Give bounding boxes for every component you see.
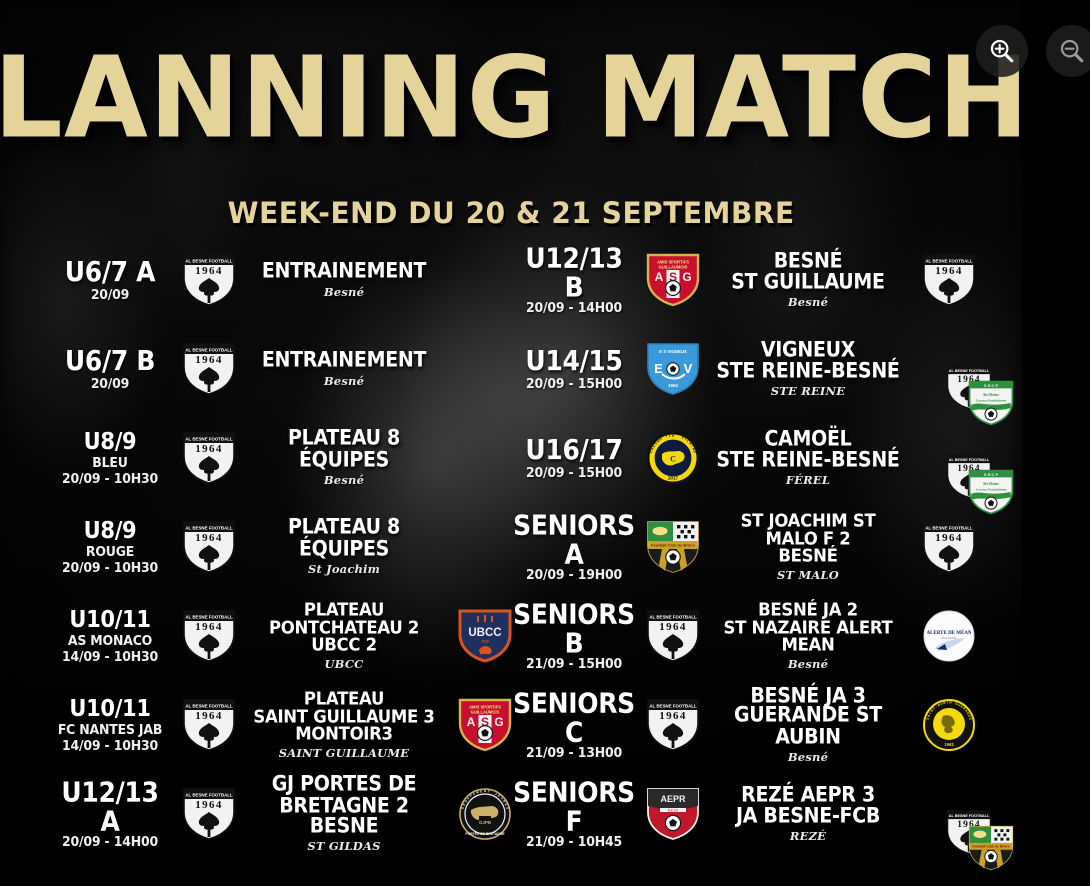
category-label: U6/7 A bbox=[48, 258, 172, 287]
svg-text:GJPB: GJPB bbox=[479, 820, 492, 825]
svg-text:1964: 1964 bbox=[935, 265, 963, 277]
fixture-row[interactable]: SENIORS A20/09 - 19H00Football Club de B… bbox=[512, 507, 992, 587]
svg-text:1963: 1963 bbox=[668, 383, 678, 388]
fixture-matchup: BESNÉST GUILLAUMEBesné bbox=[710, 251, 906, 309]
svg-text:Football Club de Brière: Football Club de Brière bbox=[651, 543, 696, 548]
svg-text:ALERTE DE MÉAN: ALERTE DE MÉAN bbox=[926, 630, 971, 636]
svg-text:1964: 1964 bbox=[659, 710, 687, 722]
crest-al-besne: AL BESNE FOOTBALL1964 bbox=[181, 608, 237, 664]
svg-text:V: V bbox=[684, 361, 693, 376]
fixture-category: SENIORS C21/09 - 13H00 bbox=[512, 692, 636, 759]
svg-text:1910: 1910 bbox=[481, 640, 489, 644]
fixture-venue: Besné bbox=[250, 374, 438, 388]
matchup-line: UBCC 2 bbox=[250, 635, 438, 654]
fixture-venue: Besné bbox=[250, 285, 438, 299]
svg-text:1964: 1964 bbox=[935, 532, 963, 544]
poster-title: PLANNING MATCHS bbox=[0, 44, 1022, 154]
svg-text:AL BESNE FOOTBALL: AL BESNE FOOTBALL bbox=[949, 458, 990, 462]
svg-text:E S VIGNEUX: E S VIGNEUX bbox=[659, 349, 687, 354]
away-crest-cell: AL BESNE FOOTBALL1964 bbox=[906, 252, 992, 308]
matchup-line: GUERANDE ST AUBIN bbox=[714, 704, 902, 749]
crest-al-besne: AL BESNE FOOTBALL1964 bbox=[181, 341, 237, 397]
fixture-venue: ST GILDAS bbox=[250, 839, 438, 853]
crest-ste-reine: S R C PSte ReineCrossac Pontchâteau bbox=[967, 468, 1015, 516]
fixture-matchup: VIGNEUXSTE REINE-BESNÉSTE REINE bbox=[710, 340, 906, 398]
category-label: SENIORS C bbox=[512, 688, 636, 745]
fixture-datetime: 21/09 - 10H45 bbox=[512, 833, 636, 849]
fixture-category: SENIORS A20/09 - 19H00 bbox=[512, 514, 636, 581]
crest-fc-briere: Football Club de Brière bbox=[645, 519, 701, 575]
svg-text:1962: 1962 bbox=[944, 742, 954, 747]
zoom-in-icon bbox=[988, 37, 1016, 65]
fixture-datetime: 20/09 - 14H00 bbox=[48, 833, 172, 849]
svg-text:AL BESNE FOOTBALL: AL BESNE FOOTBALL bbox=[185, 704, 233, 709]
category-label: U16/17 bbox=[512, 436, 636, 465]
matchup-line: PLATEAU 8 ÉQUIPES bbox=[250, 516, 438, 561]
fixture-datetime: 14/09 - 10H30 bbox=[48, 737, 172, 753]
fixture-category: U12/13 A20/09 - 14H00 bbox=[48, 781, 172, 848]
image-viewer: PLANNING MATCHS WEEK-END DU 20 & 21 SEPT… bbox=[0, 0, 1090, 886]
fixture-row[interactable]: U12/13 B20/09 - 14H00AMIS SPORTIFSGUILLA… bbox=[512, 240, 992, 320]
fixture-datetime: 20/09 bbox=[48, 375, 172, 391]
fixture-matchup: ENTRAINEMENTBesné bbox=[246, 350, 442, 387]
zoom-out-icon bbox=[1058, 37, 1086, 65]
fixture-row[interactable]: U6/7 B20/09AL BESNE FOOTBALL1964ENTRAINE… bbox=[48, 329, 528, 409]
svg-text:S R C P: S R C P bbox=[984, 472, 999, 477]
home-crest-cell: AL BESNE FOOTBALL1964 bbox=[172, 786, 246, 842]
fixture-datetime: 20/09 - 19H00 bbox=[512, 566, 636, 582]
category-label: U12/13 B bbox=[512, 243, 636, 300]
category-sublabel: ROUGE bbox=[48, 543, 172, 559]
crest-al-besne: AL BESNE FOOTBALL1964 bbox=[181, 519, 237, 575]
svg-text:1964: 1964 bbox=[195, 710, 223, 722]
fixture-datetime: 14/09 - 10H30 bbox=[48, 648, 172, 664]
fixture-category: SENIORS F21/09 - 10H45 bbox=[512, 781, 636, 848]
svg-text:1964: 1964 bbox=[195, 799, 223, 811]
matchup-line: ENTRAINEMENT bbox=[250, 260, 438, 282]
category-label: U10/11 bbox=[48, 608, 172, 632]
svg-text:AL BESNE FOOTBALL: AL BESNE FOOTBALL bbox=[185, 259, 233, 264]
category-label: SENIORS A bbox=[512, 510, 636, 567]
fixture-category: U8/9ROUGE20/09 - 10H30 bbox=[48, 520, 172, 574]
fixture-category: U10/11AS MONACO14/09 - 10H30 bbox=[48, 609, 172, 663]
svg-text:AL BESNE FOOTBALL: AL BESNE FOOTBALL bbox=[185, 437, 233, 442]
poster-title-container: PLANNING MATCHS bbox=[0, 44, 1022, 134]
fixture-matchup: PLATEAUPONTCHATEAU 2UBCC 2UBCC bbox=[246, 601, 442, 671]
home-crest-cell: E S VIGNEUXEV1963 bbox=[636, 341, 710, 397]
fixture-category: U14/1520/09 - 15H00 bbox=[512, 348, 636, 390]
svg-text:A: A bbox=[655, 270, 664, 284]
fixture-matchup: REZÉ AEPR 3JA BESNE-FCBREZÉ bbox=[710, 785, 906, 843]
away-crest-cell: AL BESNE FOOTBALL1964 bbox=[906, 519, 992, 575]
fixture-matchup: GJ PORTES DE BRETAGNE 2BESNEST GILDAS bbox=[246, 775, 442, 853]
svg-text:Saint-Nazaire: Saint-Nazaire bbox=[941, 636, 957, 640]
home-crest-cell: AL BESNE FOOTBALL1964 bbox=[172, 519, 246, 575]
home-crest-cell: AL BESNE FOOTBALL1964 bbox=[636, 608, 710, 664]
home-crest-cell: PRESQU'ILE VILAINEC2017 bbox=[636, 430, 710, 486]
fixture-venue: REZÉ bbox=[714, 829, 902, 843]
home-crest-cell: AL BESNE FOOTBALL1964 bbox=[636, 697, 710, 753]
fixtures-column-left: U6/7 A20/09AL BESNE FOOTBALL1964ENTRAINE… bbox=[48, 240, 528, 863]
crest-al-besne: AL BESNE FOOTBALL1964 bbox=[181, 252, 237, 308]
fixture-datetime: 21/09 - 13H00 bbox=[512, 744, 636, 760]
svg-text:AL BESNE FOOTBALL: AL BESNE FOOTBALL bbox=[925, 259, 973, 264]
matchup-line: PLATEAU 8 ÉQUIPES bbox=[250, 427, 438, 472]
svg-text:S R C P: S R C P bbox=[984, 383, 999, 388]
crest-asg: AMIS SPORTIFSGUILLAUMOISASG bbox=[645, 252, 701, 308]
fixture-category: SENIORS B21/09 - 15H00 bbox=[512, 603, 636, 670]
home-crest-cell: AL BESNE FOOTBALL1964 bbox=[172, 341, 246, 397]
fixture-venue: UBCC bbox=[250, 657, 438, 671]
home-crest-cell: AEPRR E Z E bbox=[636, 786, 710, 842]
fixture-row[interactable]: U8/9BLEU20/09 - 10H30AL BESNE FOOTBALL19… bbox=[48, 418, 528, 498]
matchup-line: ENTRAINEMENT bbox=[250, 349, 438, 371]
svg-text:AL BESNE FOOTBALL: AL BESNE FOOTBALL bbox=[649, 615, 697, 620]
fixture-venue: Besné bbox=[250, 473, 438, 487]
svg-text:Ste Reine: Ste Reine bbox=[983, 481, 999, 486]
svg-text:AL BESNE FOOTBALL: AL BESNE FOOTBALL bbox=[925, 526, 973, 531]
svg-text:C: C bbox=[670, 455, 676, 464]
svg-text:AL BESNE FOOTBALL: AL BESNE FOOTBALL bbox=[185, 793, 233, 798]
fixture-venue: Besné bbox=[714, 295, 902, 309]
fixture-matchup: CAMOËLSTE REINE-BESNÉFÉREL bbox=[710, 429, 906, 487]
fixture-venue: Besné bbox=[714, 750, 902, 764]
matchup-line: BESNÉ bbox=[714, 546, 902, 565]
svg-text:UBCC: UBCC bbox=[468, 627, 501, 639]
svg-text:AL BESNE FOOTBALL: AL BESNE FOOTBALL bbox=[185, 615, 233, 620]
category-sublabel: BLEU bbox=[48, 454, 172, 470]
svg-text:1964: 1964 bbox=[195, 621, 223, 633]
matchup-line: MEAN bbox=[714, 635, 902, 654]
svg-text:AL BESNE FOOTBALL: AL BESNE FOOTBALL bbox=[649, 704, 697, 709]
category-label: U6/7 B bbox=[48, 347, 172, 376]
fixture-row[interactable]: SENIORS C21/09 - 13H00AL BESNE FOOTBALL1… bbox=[512, 685, 992, 765]
svg-text:G: G bbox=[494, 715, 503, 729]
home-crest-cell: AL BESNE FOOTBALL1964 bbox=[172, 252, 246, 308]
crest-al-besne: AL BESNE FOOTBALL1964 bbox=[181, 697, 237, 753]
away-crest-cell: ALERTE DE MÉANSaint-Nazaire bbox=[906, 608, 992, 664]
crest-portes-bretagne: GROUPEMENT JEUNESGJPBPORTES DE BRETAGNE bbox=[457, 786, 513, 842]
zoom-out-button[interactable] bbox=[1046, 25, 1090, 77]
svg-text:1964: 1964 bbox=[195, 265, 223, 277]
category-label: U10/11 bbox=[48, 697, 172, 721]
home-crest-cell: AL BESNE FOOTBALL1964 bbox=[172, 608, 246, 664]
svg-text:N: N bbox=[484, 789, 486, 793]
fixture-row[interactable]: U14/1520/09 - 15H00E S VIGNEUXEV1963VIGN… bbox=[512, 329, 992, 409]
fixture-matchup: PLATEAU 8 ÉQUIPESBesné bbox=[246, 429, 442, 487]
home-crest-cell: Football Club de Brière bbox=[636, 519, 710, 575]
fixture-row[interactable]: SENIORS F21/09 - 10H45AEPRR E Z EREZÉ AE… bbox=[512, 774, 992, 854]
fixture-datetime: 20/09 - 14H00 bbox=[512, 299, 636, 315]
crest-al-besne: AL BESNE FOOTBALL1964 bbox=[181, 430, 237, 486]
category-label: U8/9 bbox=[48, 430, 172, 454]
svg-text:AL BESNE FOOTBALL: AL BESNE FOOTBALL bbox=[185, 348, 233, 353]
away-crest-cell: SAINT-AUBIN GUERANDE1962 bbox=[906, 697, 992, 753]
crest-asg: AMIS SPORTIFSGUILLAUMOISASG bbox=[457, 697, 513, 753]
fixture-row[interactable]: SENIORS B21/09 - 15H00AL BESNE FOOTBALL1… bbox=[512, 596, 992, 676]
fixture-category: U12/13 B20/09 - 14H00 bbox=[512, 247, 636, 314]
svg-text:1964: 1964 bbox=[659, 621, 687, 633]
fixture-datetime: 21/09 - 15H00 bbox=[512, 655, 636, 671]
crest-saint-aubin: SAINT-AUBIN GUERANDE1962 bbox=[921, 697, 977, 753]
svg-text:E: E bbox=[654, 361, 663, 376]
crest-aepr: AEPRR E Z E bbox=[645, 786, 701, 842]
home-crest-cell: AMIS SPORTIFSGUILLAUMOISASG bbox=[636, 252, 710, 308]
crest-ste-reine: S R C PSte ReineCrossac Pontchâteau bbox=[967, 379, 1015, 427]
crest-al-besne: AL BESNE FOOTBALL1964 bbox=[181, 786, 237, 842]
crest-al-besne: AL BESNE FOOTBALL1964 bbox=[921, 519, 977, 575]
poster-subtitle-container: WEEK-END DU 20 & 21 SEPTEMBRE bbox=[0, 196, 1022, 225]
svg-text:Ste Reine: Ste Reine bbox=[983, 392, 999, 397]
fixture-matchup: BESNÉ JA 2ST NAZAIRE ALERTMEANBesné bbox=[710, 601, 906, 671]
fixtures-column-right: U12/13 B20/09 - 14H00AMIS SPORTIFSGUILLA… bbox=[512, 240, 992, 863]
fixture-datetime: 20/09 - 10H30 bbox=[48, 559, 172, 575]
svg-text:Crossac Pontchâteau: Crossac Pontchâteau bbox=[976, 398, 1007, 402]
fixture-datetime: 20/09 - 15H00 bbox=[512, 464, 636, 480]
category-label: SENIORS B bbox=[512, 599, 636, 656]
fixture-datetime: 20/09 - 10H30 bbox=[48, 470, 172, 486]
fixture-matchup: PLATEAU 8 ÉQUIPESSt Joachim bbox=[246, 518, 442, 576]
category-sublabel: AS MONACO bbox=[48, 632, 172, 648]
crest-al-besne: AL BESNE FOOTBALL1964 bbox=[921, 252, 977, 308]
crest-esv: E S VIGNEUXEV1963 bbox=[645, 341, 701, 397]
fixture-row[interactable]: U10/11FC NANTES JAB14/09 - 10H30AL BESNE… bbox=[48, 685, 528, 765]
fixture-venue: Besné bbox=[714, 657, 902, 671]
category-label: SENIORS F bbox=[512, 777, 636, 834]
poster-subtitle: WEEK-END DU 20 & 21 SEPTEMBRE bbox=[227, 196, 794, 230]
svg-text:Football Club de Brière: Football Club de Brière bbox=[972, 845, 1010, 849]
fixture-row[interactable]: U8/9ROUGE20/09 - 10H30AL BESNE FOOTBALL1… bbox=[48, 507, 528, 587]
crest-al-besne: AL BESNE FOOTBALL1964 bbox=[645, 697, 701, 753]
crest-al-besne: AL BESNE FOOTBALL1964 bbox=[645, 608, 701, 664]
matchup-line: ST GUILLAUME bbox=[714, 270, 902, 292]
svg-text:AEPR: AEPR bbox=[660, 794, 686, 804]
fixture-venue: STE REINE bbox=[714, 384, 902, 398]
crest-presquile: PRESQU'ILE VILAINEC2017 bbox=[645, 430, 701, 486]
svg-text:GUILLAUMOIS: GUILLAUMOIS bbox=[659, 264, 688, 269]
matchup-line: BESNE bbox=[250, 815, 438, 837]
svg-text:G: G bbox=[682, 270, 691, 284]
matchup-line: STE REINE-BESNÉ bbox=[714, 359, 902, 381]
category-sublabel: FC NANTES JAB bbox=[48, 721, 172, 737]
crest-fc-briere: Football Club de Brière bbox=[967, 824, 1015, 872]
fixture-category: U6/7 A20/09 bbox=[48, 259, 172, 301]
fixture-category: U16/1720/09 - 15H00 bbox=[512, 437, 636, 479]
svg-text:1964: 1964 bbox=[195, 443, 223, 455]
fixture-row[interactable]: U16/1720/09 - 15H00PRESQU'ILE VILAINEC20… bbox=[512, 418, 992, 498]
fixture-row[interactable]: U10/11AS MONACO14/09 - 10H30AL BESNE FOO… bbox=[48, 596, 528, 676]
svg-text:AL BESNE FOOTBALL: AL BESNE FOOTBALL bbox=[949, 814, 990, 818]
matchup-line: GJ PORTES DE BRETAGNE 2 bbox=[250, 773, 438, 818]
fixture-matchup: ST JOACHIM STMALO F 2BESNÉST MALO bbox=[710, 512, 906, 582]
matchup-line: MONTOIR3 bbox=[250, 724, 438, 743]
fixture-venue: FÉREL bbox=[714, 473, 902, 487]
fixture-category: U8/9BLEU20/09 - 10H30 bbox=[48, 431, 172, 485]
fixture-matchup: ENTRAINEMENTBesné bbox=[246, 261, 442, 298]
svg-text:GUILLAUMOIS: GUILLAUMOIS bbox=[471, 709, 500, 714]
fixture-matchup: BESNÉ JA 3GUERANDE ST AUBINBesné bbox=[710, 686, 906, 764]
category-label: U14/15 bbox=[512, 347, 636, 376]
svg-text:2017: 2017 bbox=[668, 476, 679, 481]
svg-text:PORTES DE BRETAGNE: PORTES DE BRETAGNE bbox=[465, 832, 505, 836]
fixture-venue: St Joachim bbox=[250, 562, 438, 576]
fixture-row[interactable]: U6/7 A20/09AL BESNE FOOTBALL1964ENTRAINE… bbox=[48, 240, 528, 320]
crest-ubcc: UBCC1910 bbox=[457, 608, 513, 664]
fixture-venue: SAINT GUILLAUME bbox=[250, 746, 438, 760]
fixture-matchup: PLATEAUSAINT GUILLAUME 3MONTOIR3SAINT GU… bbox=[246, 690, 442, 760]
home-crest-cell: AL BESNE FOOTBALL1964 bbox=[172, 697, 246, 753]
crest-alerte-mean: ALERTE DE MÉANSaint-Nazaire bbox=[921, 608, 977, 664]
svg-text:1964: 1964 bbox=[195, 354, 223, 366]
fixture-category: U10/11FC NANTES JAB14/09 - 10H30 bbox=[48, 698, 172, 752]
fixture-datetime: 20/09 bbox=[48, 286, 172, 302]
fixture-category: U6/7 B20/09 bbox=[48, 348, 172, 390]
fixture-row[interactable]: U12/13 A20/09 - 14H00AL BESNE FOOTBALL19… bbox=[48, 774, 528, 854]
category-label: U8/9 bbox=[48, 519, 172, 543]
svg-text:A: A bbox=[467, 715, 476, 729]
fixture-venue: ST MALO bbox=[714, 568, 902, 582]
svg-text:AL BESNE FOOTBALL: AL BESNE FOOTBALL bbox=[185, 526, 233, 531]
svg-text:R E Z E: R E Z E bbox=[668, 808, 679, 812]
zoom-in-button[interactable] bbox=[976, 25, 1028, 77]
match-schedule-poster: PLANNING MATCHS WEEK-END DU 20 & 21 SEPT… bbox=[0, 0, 1022, 886]
fixture-datetime: 20/09 - 15H00 bbox=[512, 375, 636, 391]
svg-text:1964: 1964 bbox=[195, 532, 223, 544]
svg-text:Crossac Pontchâteau: Crossac Pontchâteau bbox=[976, 487, 1007, 491]
svg-text:AL BESNE FOOTBALL: AL BESNE FOOTBALL bbox=[949, 369, 990, 373]
category-label: U12/13 A bbox=[48, 777, 172, 834]
matchup-line: STE REINE-BESNÉ bbox=[714, 448, 902, 470]
home-crest-cell: AL BESNE FOOTBALL1964 bbox=[172, 430, 246, 486]
matchup-line: JA BESNE-FCB bbox=[714, 804, 902, 826]
